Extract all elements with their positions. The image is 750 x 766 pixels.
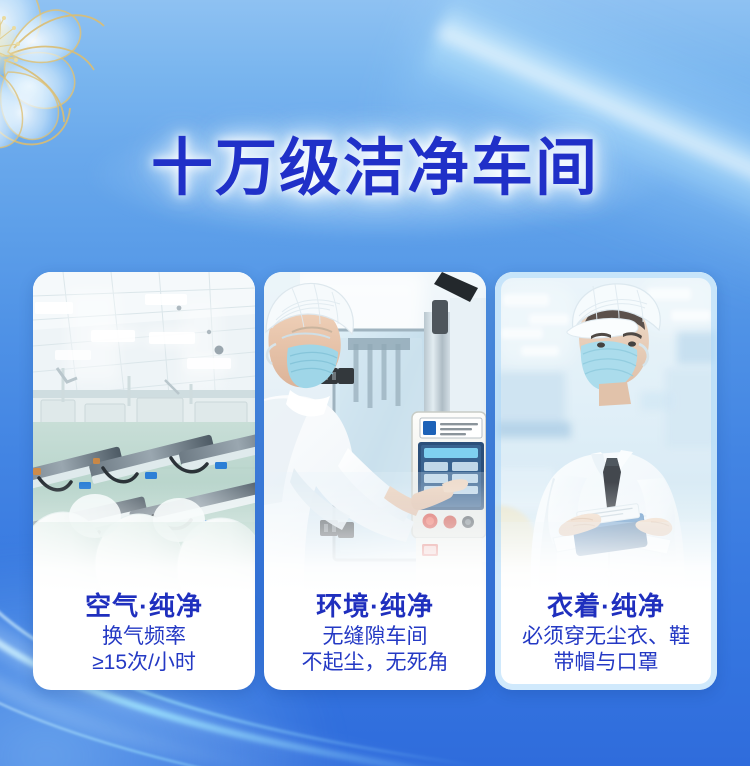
card-caption: 环境·纯净 无缝隙车间 不起尘，无死角 (264, 590, 486, 690)
feature-card-clothing[interactable]: 衣着·纯净 必须穿无尘衣、鞋 带帽与口罩 (495, 272, 717, 690)
card-line-2: 带帽与口罩 (503, 650, 709, 676)
card-caption: 空气·纯净 换气频率 ≥15次/小时 (33, 590, 255, 690)
photo-fade-overlay (264, 482, 486, 592)
card-heading: 衣着·纯净 (503, 590, 709, 622)
photo-fade-overlay (33, 482, 255, 592)
card-heading: 环境·纯净 (272, 590, 478, 622)
card-line-2: 不起尘，无死角 (272, 650, 478, 676)
cleanroom-production-line-photo (33, 272, 255, 592)
card-heading: 空气·纯净 (41, 590, 247, 622)
worker-operating-control-panel-photo (264, 272, 486, 592)
feature-card-environment[interactable]: 环境·纯净 无缝隙车间 不起尘，无死角 (264, 272, 486, 690)
card-line-2: ≥15次/小时 (41, 650, 247, 676)
card-line-1: 换气频率 (41, 624, 247, 650)
worker-with-clipboard-photo (495, 272, 717, 592)
feature-card-air[interactable]: 空气·纯净 换气频率 ≥15次/小时 (33, 272, 255, 690)
photo-fade-overlay (495, 482, 717, 592)
feature-card-list: 空气·纯净 换气频率 ≥15次/小时 (33, 272, 717, 690)
page-title: 十万级洁净车间 (0, 134, 750, 204)
card-line-1: 无缝隙车间 (272, 624, 478, 650)
card-line-1: 必须穿无尘衣、鞋 (503, 624, 709, 650)
promo-banner: 十万级洁净车间 (0, 0, 750, 766)
card-caption: 衣着·纯净 必须穿无尘衣、鞋 带帽与口罩 (495, 590, 717, 690)
